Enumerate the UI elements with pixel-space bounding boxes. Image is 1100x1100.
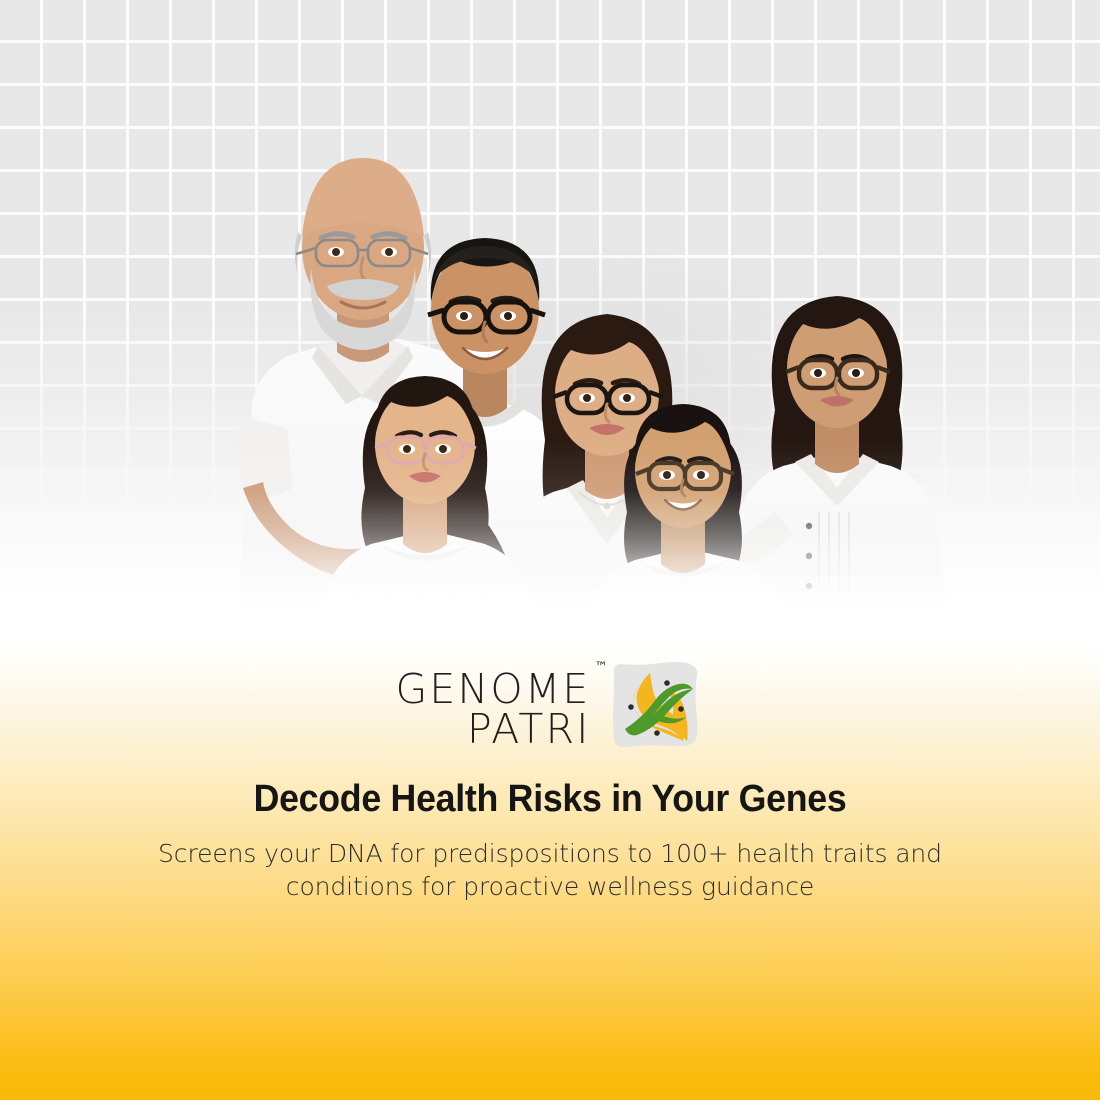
subtitle: Screens your DNA for predispositions to … bbox=[140, 837, 960, 903]
brand-wordmark: GENOME PATRI ™ bbox=[395, 664, 590, 750]
genome-patri-logo-mark bbox=[605, 657, 705, 757]
page-title: Decode Health Risks in Your Genes bbox=[33, 778, 1067, 821]
wordmark-line-patri: PATRI bbox=[467, 710, 591, 750]
product-banner: GENOME PATRI ™ Decode Health Risks in Yo… bbox=[0, 0, 1100, 1100]
brand-logo: GENOME PATRI ™ bbox=[0, 648, 1100, 766]
trademark-icon: ™ bbox=[595, 662, 608, 675]
family-photo bbox=[175, 140, 980, 610]
subtitle-line-2: conditions for proactive wellness guidan… bbox=[286, 872, 814, 901]
subtitle-line-1: Screens your DNA for predispositions to … bbox=[158, 839, 942, 868]
